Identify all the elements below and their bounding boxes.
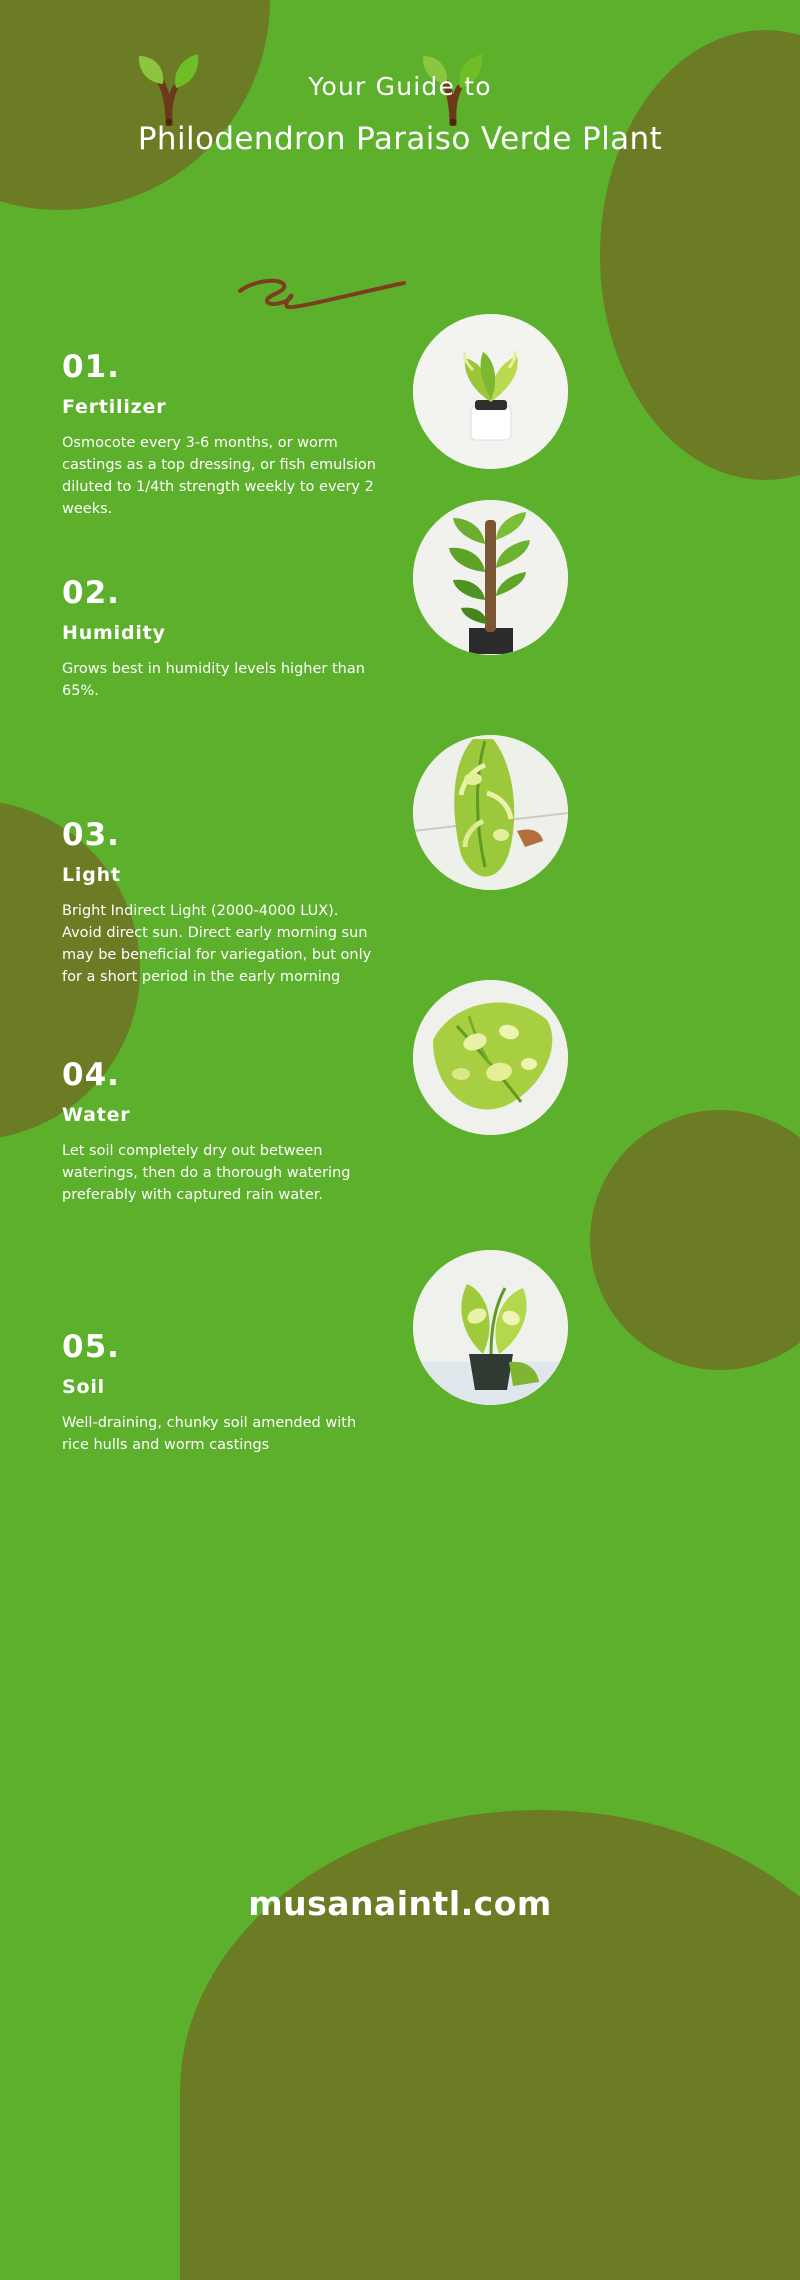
- section-heading: Fertilizer: [62, 396, 382, 418]
- section-number: 02.: [62, 578, 382, 609]
- section-text: 03. Light Bright Indirect Light (2000-40…: [62, 820, 382, 988]
- section-heading: Light: [62, 864, 382, 886]
- section-text: 02. Humidity Grows best in humidity leve…: [62, 578, 382, 702]
- header-eyebrow: Your Guide to: [0, 72, 800, 101]
- decorative-blob-middle-right: [590, 1110, 800, 1370]
- squiggle-divider-icon: [236, 275, 406, 315]
- section-number: 04.: [62, 1060, 382, 1091]
- section-number: 05.: [62, 1332, 382, 1363]
- section-number: 03.: [62, 820, 382, 851]
- section-photo: [413, 314, 568, 469]
- section-heading: Soil: [62, 1376, 382, 1398]
- section-body: Let soil completely dry out between wate…: [62, 1140, 382, 1206]
- section-text: 04. Water Let soil completely dry out be…: [62, 1060, 382, 1206]
- section-body: Grows best in humidity levels higher tha…: [62, 658, 382, 702]
- section-text: 01. Fertilizer Osmocote every 3-6 months…: [62, 352, 382, 520]
- section-text: 05. Soil Well-draining, chunky soil amen…: [62, 1332, 382, 1456]
- decorative-blob-footer: [180, 1810, 800, 2280]
- section-photo: [413, 1250, 568, 1405]
- section-number: 01.: [62, 352, 382, 383]
- page-title: Philodendron Paraiso Verde Plant: [0, 119, 800, 160]
- section-body: Bright Indirect Light (2000-4000 LUX). A…: [62, 900, 382, 988]
- section-body: Well-draining, chunky soil amended with …: [62, 1412, 382, 1456]
- title-block: Your Guide to Philodendron Paraiso Verde…: [0, 72, 800, 160]
- section-photo: [413, 500, 568, 655]
- section-photo: [413, 980, 568, 1135]
- section-photo: [413, 735, 568, 890]
- section-body: Osmocote every 3-6 months, or worm casti…: [62, 432, 382, 520]
- section-heading: Water: [62, 1104, 382, 1126]
- footer-website-url[interactable]: musanaintl.com: [0, 1884, 800, 1923]
- section-heading: Humidity: [62, 622, 382, 644]
